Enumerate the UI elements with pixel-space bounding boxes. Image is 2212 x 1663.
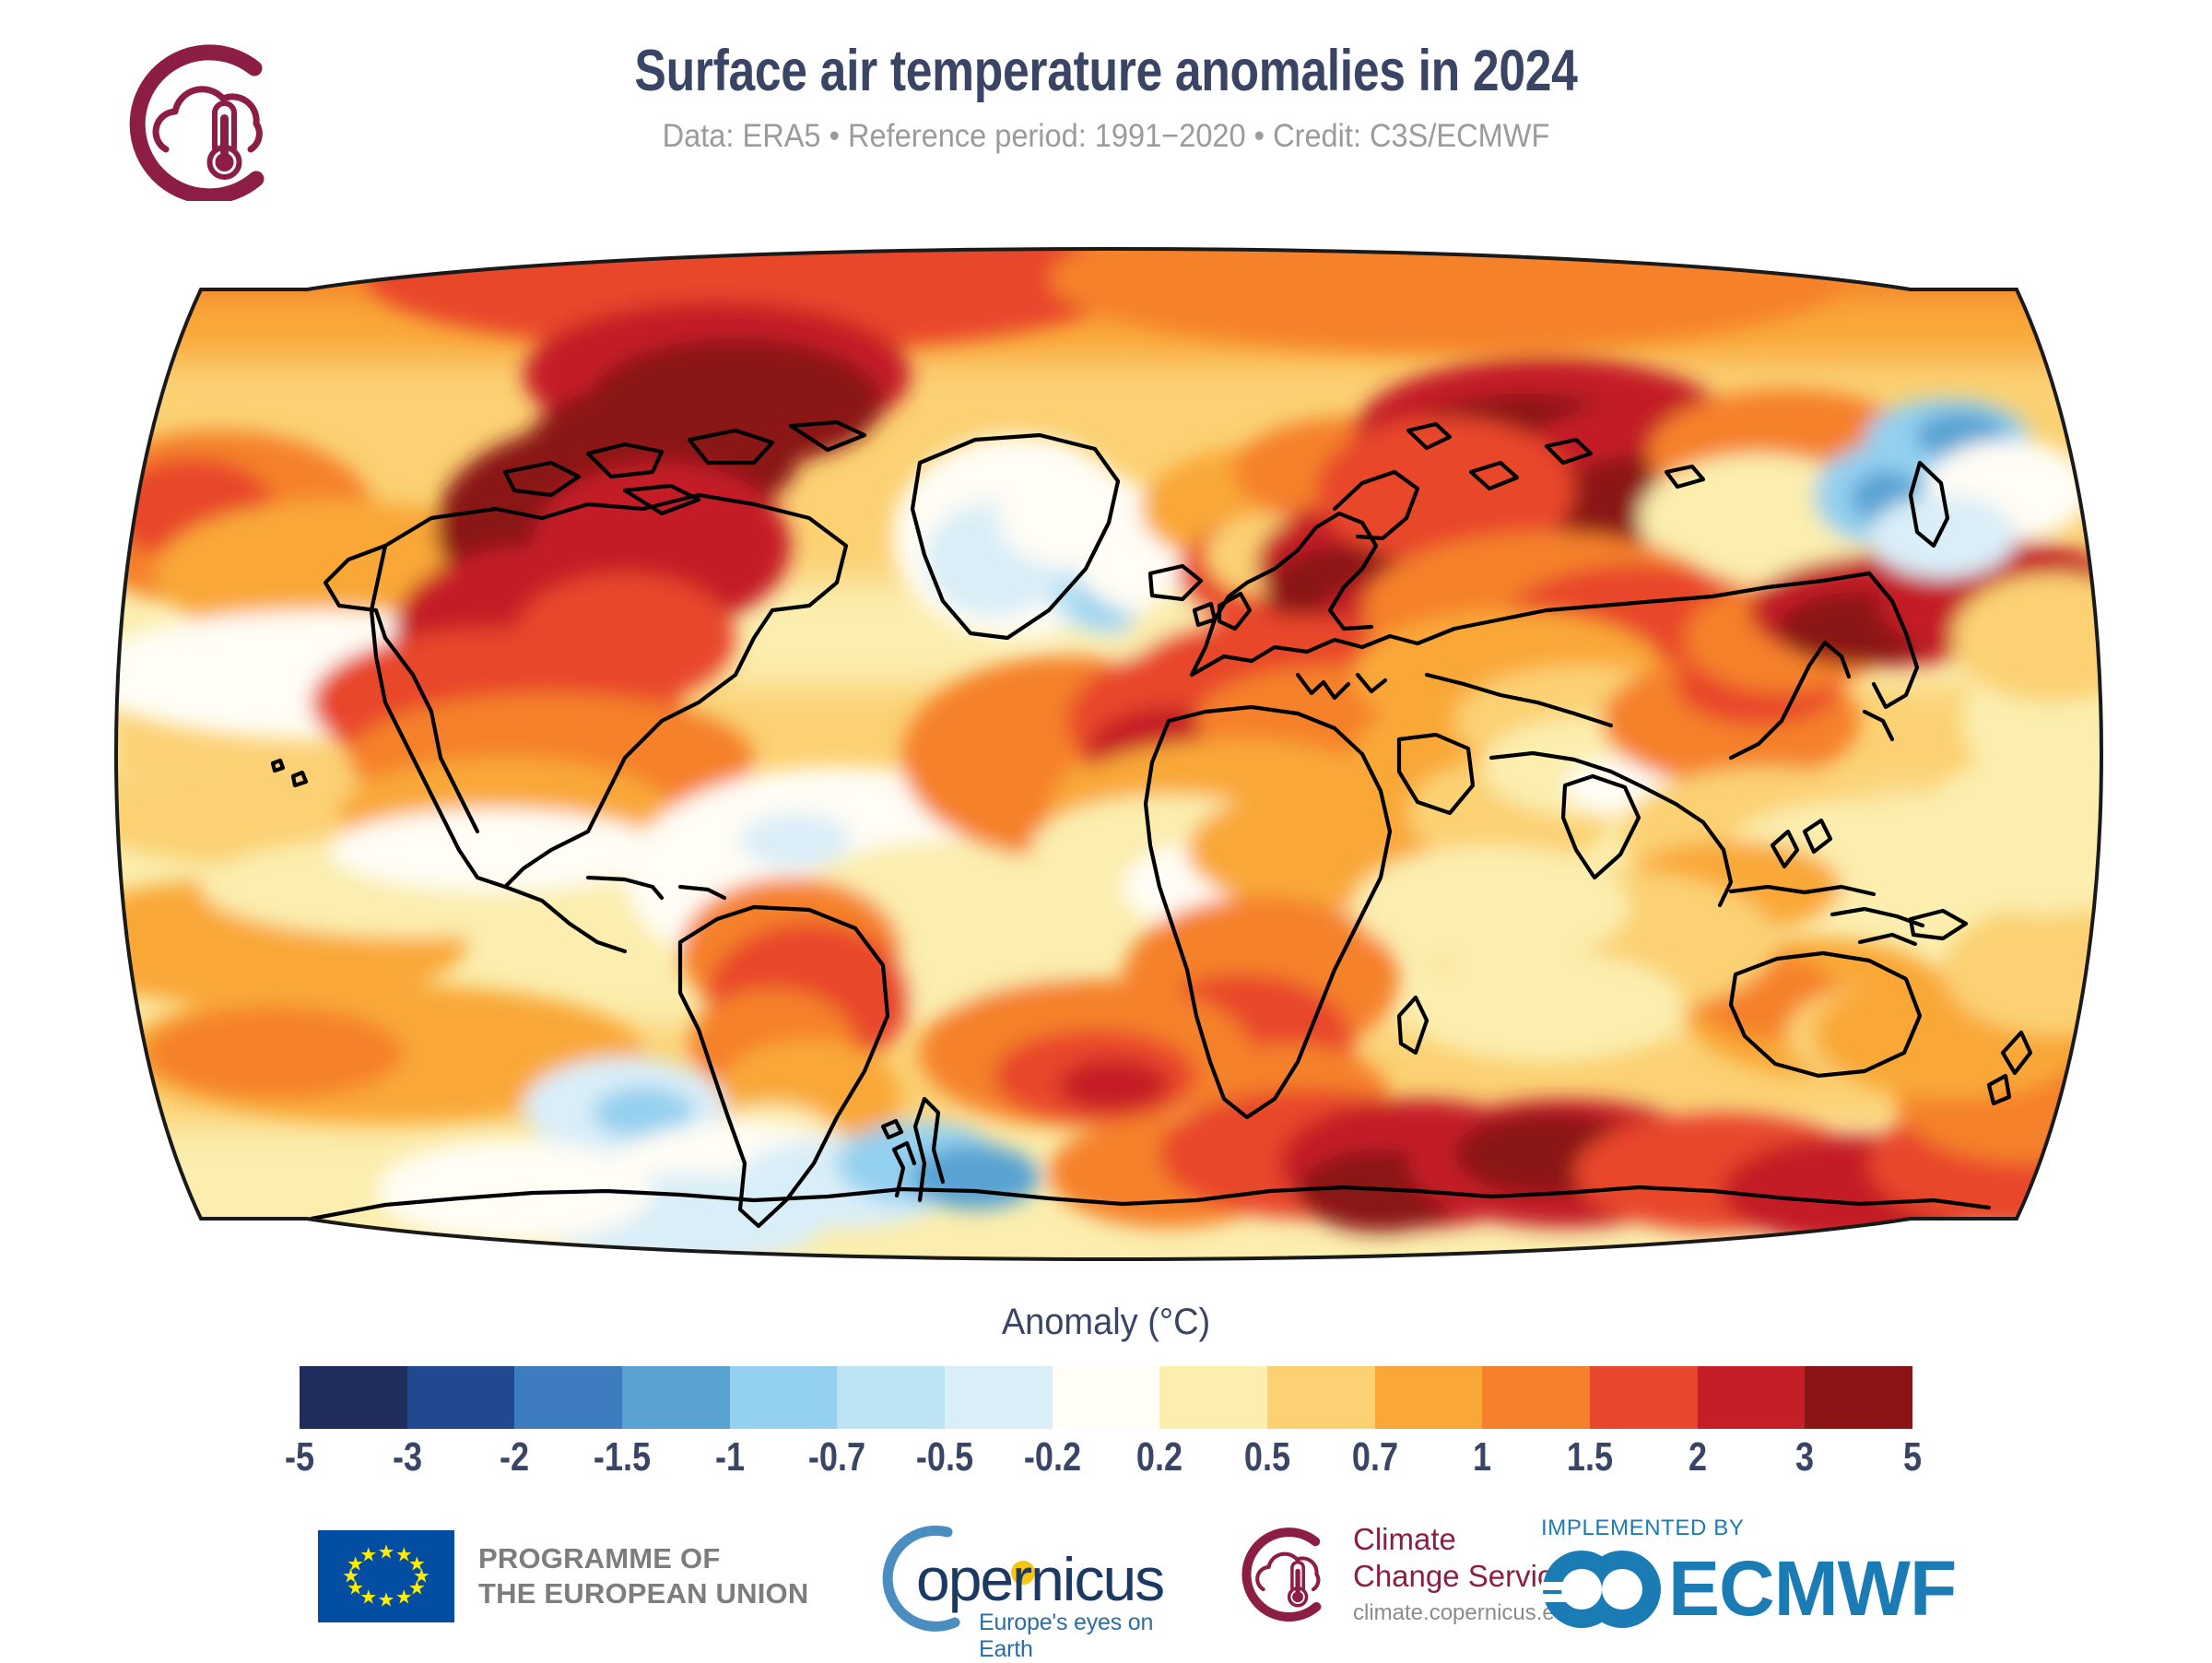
colorbar-tick-14: 3 [1795,1434,1814,1480]
colorbar-swatch-2[interactable] [514,1366,622,1429]
colorbar[interactable] [300,1366,1912,1429]
ecmwf-rings-icon [1541,1547,1663,1632]
eu-logo-block: ★★★★★★★★★★★★ PROGRAMME OF THE EUROPEAN U… [318,1530,808,1622]
colorbar-tick-0: -5 [285,1434,314,1480]
colorbar-tick-12: 1.5 [1567,1434,1613,1480]
colorbar-swatch-0[interactable] [300,1366,407,1429]
colorbar-tick-2: -2 [500,1434,529,1480]
colorbar-swatch-5[interactable] [837,1366,945,1429]
colorbar-title: Anomaly (°C) [55,1302,2157,1343]
eu-star-icon: ★ [378,1543,395,1563]
header: Surface air temperature anomalies in 202… [0,41,2212,155]
eu-flag-icon: ★★★★★★★★★★★★ [318,1530,454,1622]
colorbar-swatch-7[interactable] [1053,1366,1160,1429]
colorbar-tick-1: -3 [393,1434,422,1480]
colorbar-tick-5: -0.7 [808,1434,865,1480]
colorbar-tick-4: -1 [715,1434,745,1480]
colorbar-swatch-4[interactable] [730,1366,838,1429]
colorbar-tick-7: -0.2 [1024,1434,1081,1480]
c3s-line-2: Change Service [1353,1558,1570,1595]
c3s-line-1: Climate [1353,1521,1570,1558]
ecmwf-logo-block: IMPLEMENTED BY ECMWF [1541,1516,1956,1632]
eu-programme-text: PROGRAMME OF THE EUROPEAN UNION [478,1541,808,1611]
colorbar-tick-10: 0.7 [1352,1434,1398,1480]
colorbar-swatch-1[interactable] [407,1366,515,1429]
colorbar-tick-labels: -5-3-2-1.5-1-0.7-0.5-0.20.20.50.711.5235 [300,1434,1912,1486]
colorbar-swatch-3[interactable] [622,1366,730,1429]
copernicus-logo-block: opernicus Europe's eyes on Earth [876,1519,1180,1639]
colorbar-swatch-12[interactable] [1590,1366,1698,1429]
eu-line-2: THE EUROPEAN UNION [478,1576,808,1611]
c3s-cloud-thermometer-icon [1235,1522,1338,1625]
eu-line-1: PROGRAMME OF [478,1541,808,1576]
colorbar-swatch-13[interactable] [1698,1366,1806,1429]
climate-anomaly-poster: Surface air temperature anomalies in 202… [0,0,2212,1659]
colorbar-tick-11: 1 [1473,1434,1491,1480]
world-anomaly-map [109,242,2109,1267]
colorbar-swatch-14[interactable] [1805,1366,1912,1429]
footer-logos: ★★★★★★★★★★★★ PROGRAMME OF THE EUROPEAN U… [0,1512,2212,1659]
colorbar-tick-6: -0.5 [916,1434,973,1480]
page-title: Surface air temperature anomalies in 202… [199,41,2013,101]
ecmwf-eyebrow: IMPLEMENTED BY [1541,1516,1956,1541]
colorbar-tick-3: -1.5 [594,1434,651,1480]
c3s-logo-block: Climate Change Service climate.copernicu… [1235,1521,1570,1626]
ecmwf-wordmark: ECMWF [1668,1552,1956,1626]
colorbar-tick-8: 0.2 [1136,1434,1182,1480]
copernicus-tagline: Europe's eyes on Earth [979,1610,1180,1663]
page-subtitle: Data: ERA5 • Reference period: 1991−2020… [77,118,2135,155]
colorbar-swatch-10[interactable] [1375,1366,1483,1429]
map-canvas [109,242,2109,1267]
colorbar-swatch-11[interactable] [1482,1366,1590,1429]
colorbar-swatch-8[interactable] [1159,1366,1267,1429]
colorbar-swatch-6[interactable] [945,1366,1053,1429]
colorbar-swatch-9[interactable] [1267,1366,1375,1429]
eu-star-icon: ★ [378,1591,395,1610]
colorbar-tick-15: 5 [1903,1434,1922,1480]
copernicus-wordmark: opernicus [916,1551,1163,1609]
eu-star-icon: ★ [395,1587,413,1607]
colorbar-tick-13: 2 [1688,1434,1707,1480]
c3s-url[interactable]: climate.copernicus.eu [1353,1600,1570,1626]
colorbar-tick-9: 0.5 [1244,1434,1290,1480]
anomaly-field [109,242,2109,1267]
eu-star-icon: ★ [359,1546,377,1565]
